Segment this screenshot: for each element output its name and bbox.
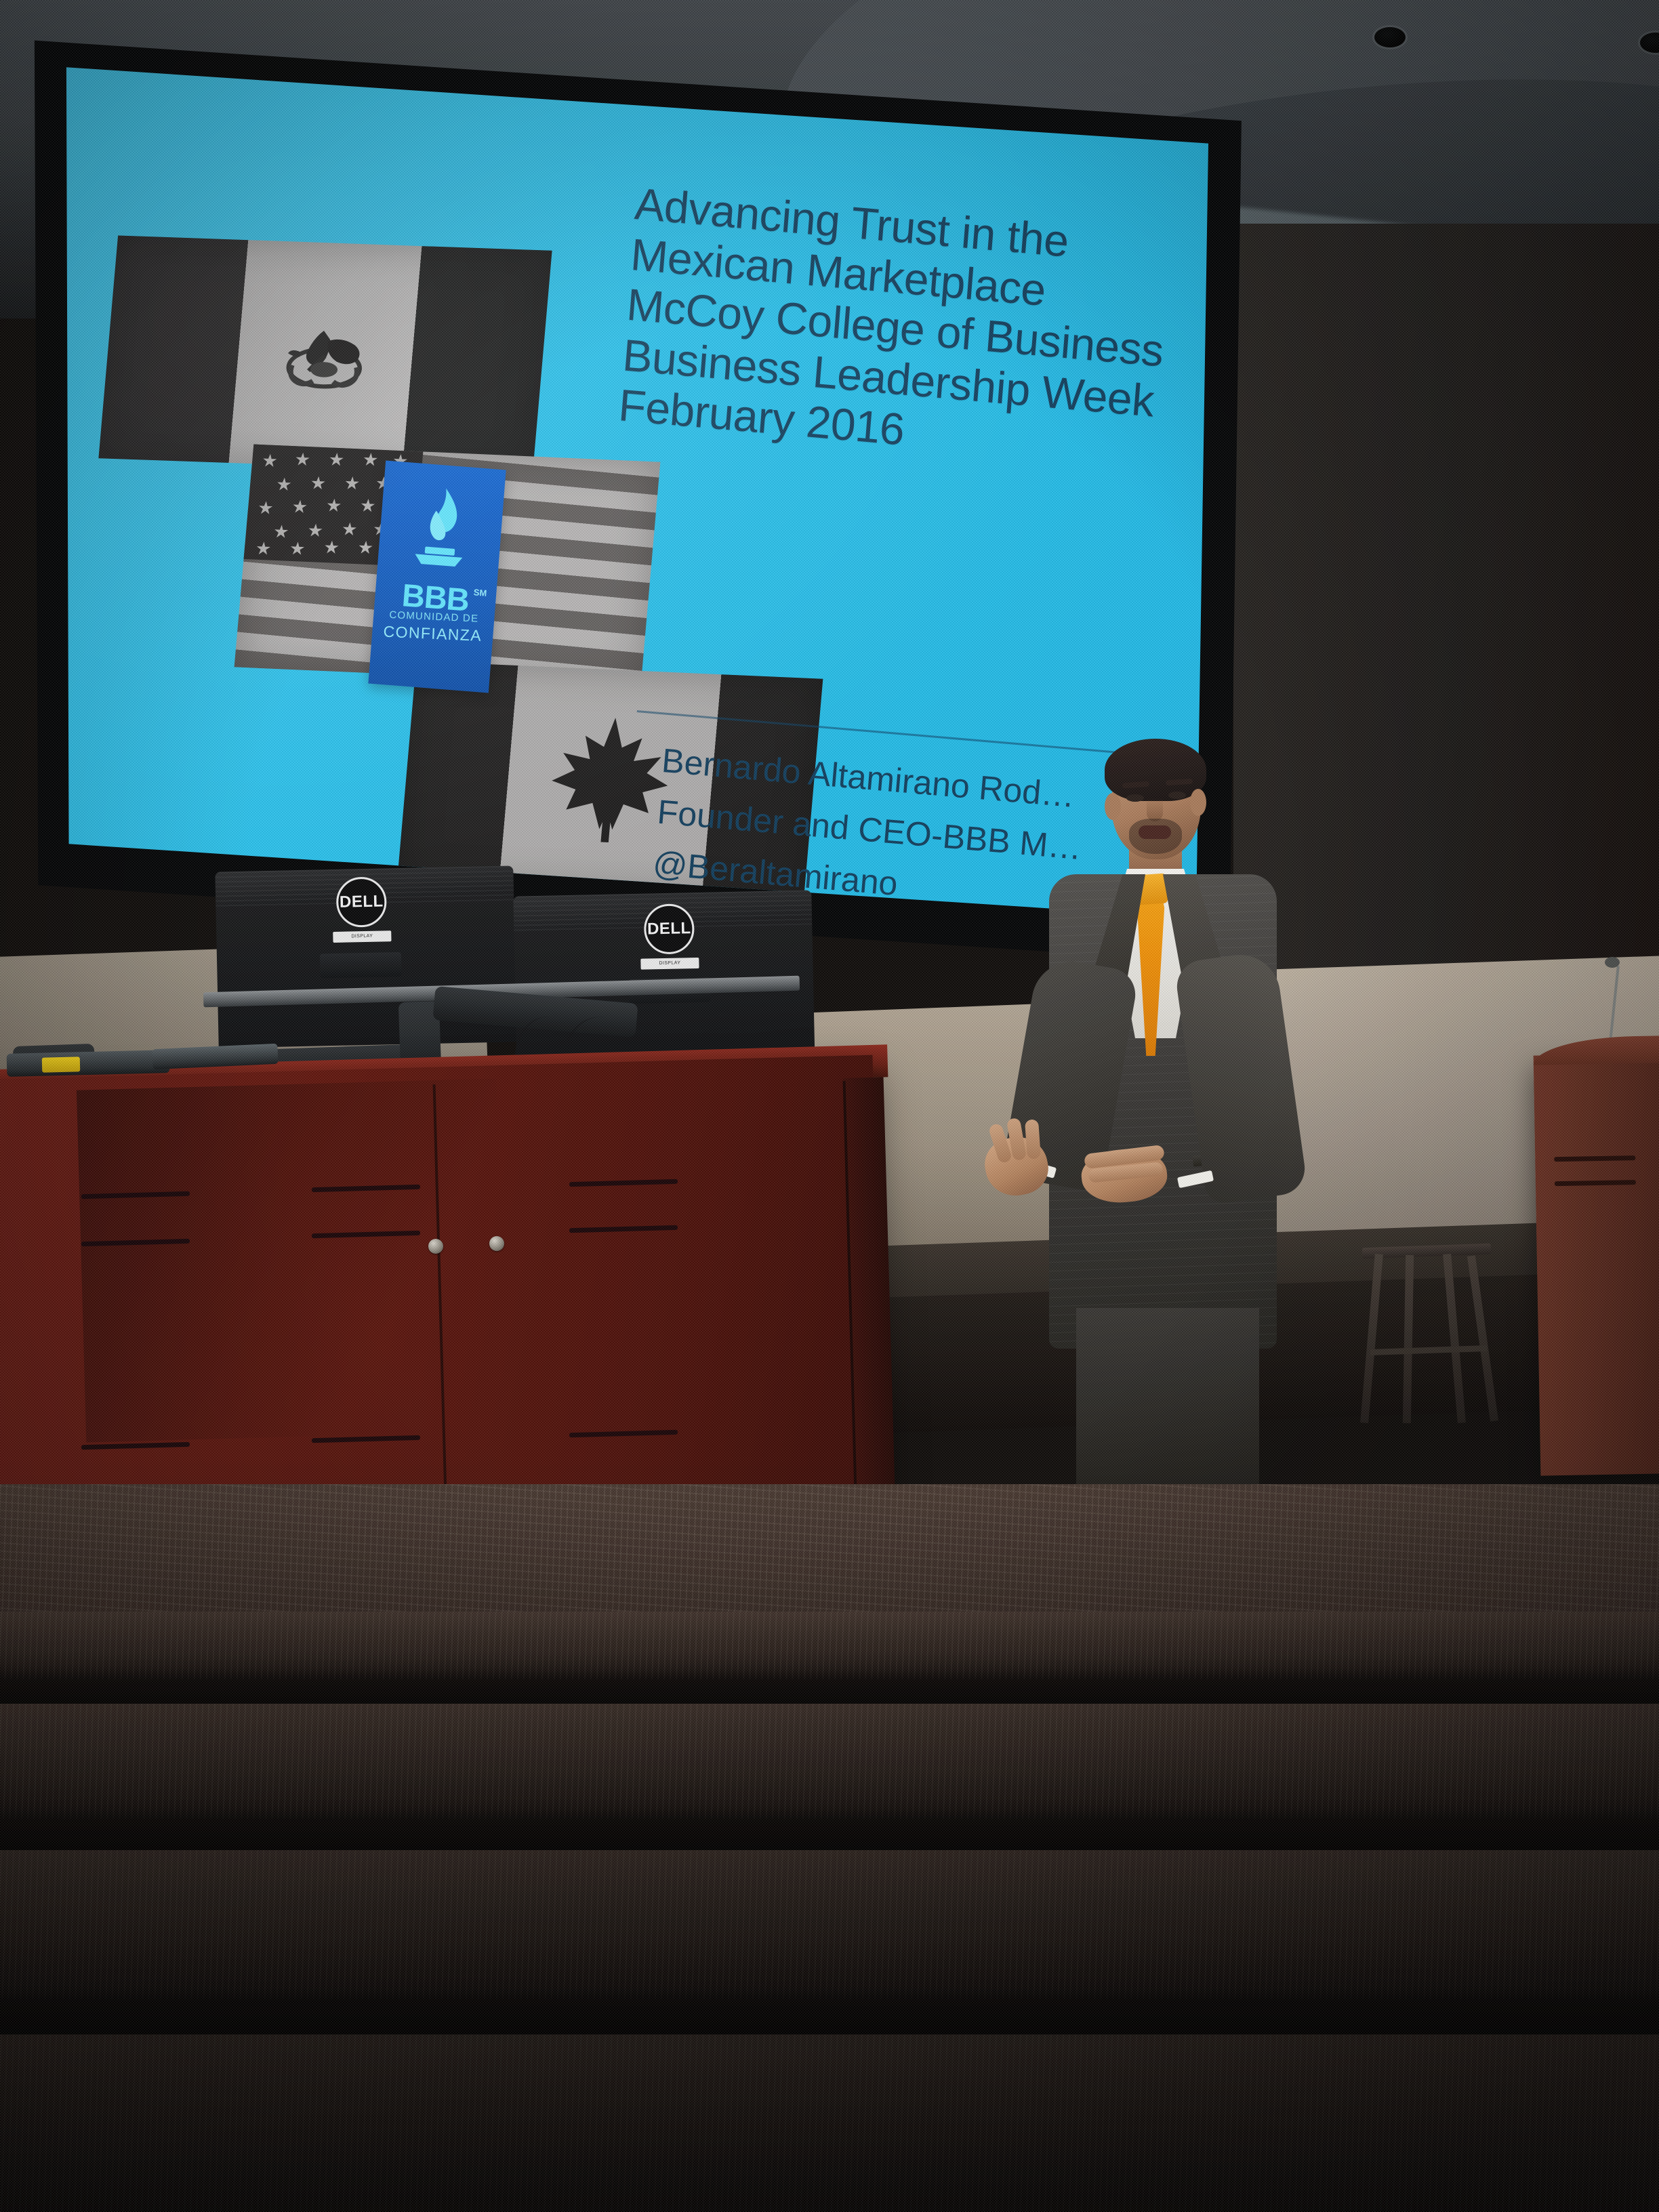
- slide-title-line: Advancing Trust in the: [633, 178, 1245, 282]
- dell-brand-text: DELL: [647, 919, 691, 939]
- lectern-vent-slot: [1554, 1155, 1635, 1162]
- credenza-lock-icon[interactable]: [428, 1239, 443, 1254]
- bbb-wordmark: BBB: [374, 574, 497, 621]
- stage-step-riser: [0, 2034, 1659, 2212]
- usa-flag-canton: ★ ★ ★ ★ ★ ★ ★ ★ ★ ★ ★ ★ ★ ★ ★: [244, 445, 424, 567]
- ear-left: [1105, 793, 1121, 820]
- dell-model-label: DISPLAY: [333, 930, 391, 943]
- credenza-lock-icon[interactable]: [489, 1236, 504, 1251]
- stage-step-riser: [0, 1704, 1659, 1819]
- hair: [1105, 739, 1206, 801]
- maple-leaf-icon: [540, 708, 680, 849]
- bbb-service-mark: SM: [473, 587, 487, 598]
- bbb-tagline-line2: CONFIANZA: [372, 622, 493, 646]
- dell-model-text: DISPLAY: [333, 930, 391, 943]
- finger: [1025, 1119, 1041, 1159]
- dell-model-label: DISPLAY: [640, 958, 699, 970]
- desk-device-yellow-sticker: [42, 1057, 81, 1072]
- downlight-icon: [1374, 27, 1406, 47]
- slide-title-line: February 2016: [617, 380, 1229, 483]
- slide-title-line: Business Leadership Week: [621, 329, 1233, 433]
- lectern[interactable]: [1534, 1052, 1659, 1475]
- eye-right: [1168, 792, 1186, 799]
- eye-left: [1126, 794, 1144, 802]
- auditorium-scene: ★ ★ ★ ★ ★ ★ ★ ★ ★ ★ ★ ★ ★ ★ ★: [0, 0, 1659, 2212]
- slide-title: Advancing Trust in the Mexican Marketpla…: [617, 178, 1245, 483]
- slide-title-line: Mexican Marketplace: [629, 228, 1241, 332]
- stage-step-riser: [0, 1850, 1659, 1999]
- stage-step-riser: [0, 1612, 1659, 1679]
- dell-logo-icon: DELL: [336, 876, 388, 928]
- bbb-torch-flame-icon: [409, 483, 474, 575]
- speaker-person: [996, 739, 1315, 1559]
- bbb-tagline-line1: COMUNIDAD DE: [373, 609, 495, 626]
- dell-model-text: DISPLAY: [640, 958, 699, 970]
- stage-step-edge: [0, 1679, 1659, 1704]
- nose: [1147, 798, 1163, 821]
- microphone-icon: [1605, 957, 1620, 968]
- stage-step-edge: [0, 1819, 1659, 1850]
- monitor-vesa-mount: [320, 952, 402, 979]
- ear-right: [1190, 789, 1206, 816]
- lectern-vent-slot: [1555, 1180, 1636, 1186]
- usa-flag: ★ ★ ★ ★ ★ ★ ★ ★ ★ ★ ★ ★ ★ ★ ★: [234, 445, 661, 685]
- dell-brand-text: DELL: [340, 892, 384, 912]
- desk-device[interactable]: [7, 1050, 170, 1077]
- bbb-logo-banner: BBB SM COMUNIDAD DE CONFIANZA: [368, 461, 506, 693]
- stage-step-edge: [0, 1999, 1659, 2034]
- mouth: [1139, 825, 1171, 839]
- canada-flag: [397, 661, 823, 902]
- mexico-eagle-emblem: [271, 314, 380, 395]
- slide-title-line: McCoy College of Business: [625, 279, 1237, 383]
- mexico-flag: [98, 235, 552, 473]
- dell-logo-icon: DELL: [644, 903, 695, 955]
